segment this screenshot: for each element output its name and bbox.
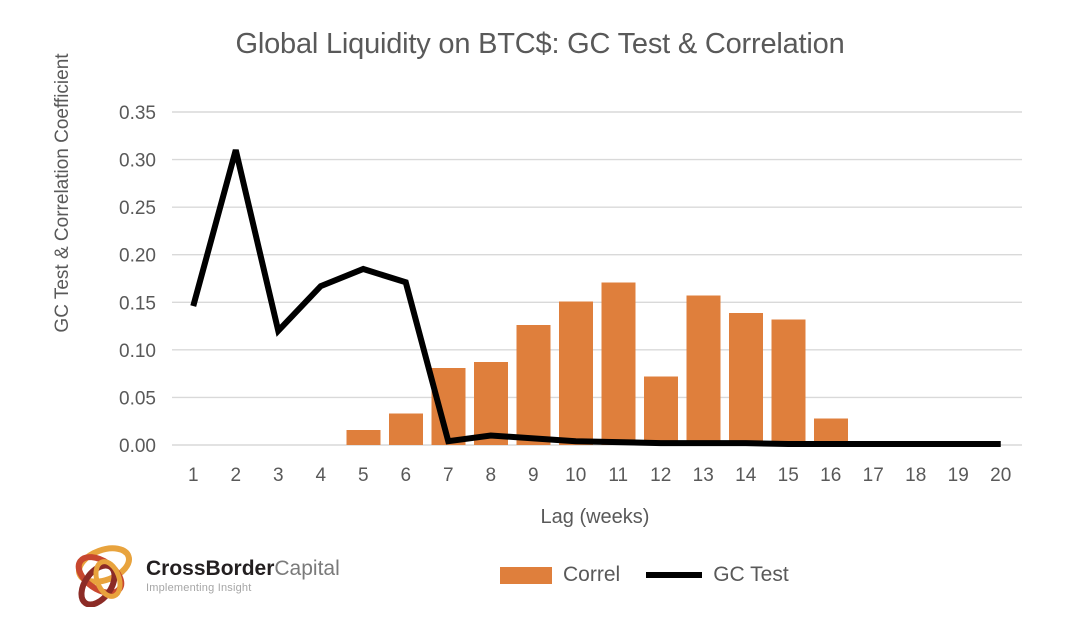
brand-tagline: Implementing Insight	[146, 583, 340, 594]
y-tick-label: 0.10	[119, 341, 156, 362]
x-tick-label: 18	[905, 465, 926, 486]
chart-figure: Global Liquidity on BTC$: GC Test & Corr…	[0, 0, 1080, 631]
legend-label-correl: Correl	[563, 563, 620, 587]
bar	[729, 313, 763, 445]
x-tick-label: 4	[315, 465, 326, 486]
y-tick-label: 0.15	[119, 293, 156, 314]
bar	[389, 414, 423, 445]
x-axis-title: Lag (weeks)	[170, 506, 1020, 529]
gc-test-line	[193, 150, 1001, 444]
x-tick-label: 13	[693, 465, 714, 486]
x-tick-label: 12	[650, 465, 671, 486]
x-tick-label: 15	[778, 465, 799, 486]
plot-area: 0.000.050.100.150.200.250.300.35 1234567…	[0, 0, 1080, 631]
x-tick-label: 10	[565, 465, 586, 486]
legend-item-correl: Correl	[500, 563, 620, 587]
brand-name: CrossBorderCapital	[146, 558, 340, 579]
bar	[516, 325, 550, 445]
y-tick-label: 0.25	[119, 198, 156, 219]
bar	[346, 430, 380, 445]
x-tick-label: 16	[820, 465, 841, 486]
x-tick-label: 19	[948, 465, 969, 486]
bar	[559, 301, 593, 445]
bar	[686, 296, 720, 445]
y-tick-label: 0.05	[119, 388, 156, 409]
x-tick-label: 20	[990, 465, 1011, 486]
x-tick-label: 1	[188, 465, 199, 486]
legend-item-gc-test: GC Test	[646, 563, 788, 587]
y-tick-label: 0.00	[119, 436, 156, 457]
chart-legend: Correl GC Test	[500, 563, 789, 587]
line-series-gc-test	[193, 150, 1001, 444]
x-tick-label: 7	[443, 465, 454, 486]
x-tick-label: 2	[230, 465, 241, 486]
x-axis-tick-labels: 1234567891011121314151617181920	[188, 465, 1011, 486]
bar	[814, 418, 848, 445]
legend-line-swatch-icon	[646, 572, 702, 578]
bar	[601, 282, 635, 445]
y-axis-tick-labels: 0.000.050.100.150.200.250.300.35	[119, 103, 156, 457]
crossborder-spiral-logo-icon	[70, 545, 138, 607]
brand-name-light: Capital	[274, 557, 339, 580]
y-tick-label: 0.30	[119, 151, 156, 172]
x-tick-label: 14	[735, 465, 757, 486]
y-tick-label: 0.35	[119, 103, 156, 124]
gridlines	[172, 112, 1022, 445]
x-tick-label: 5	[358, 465, 369, 486]
x-tick-label: 3	[273, 465, 284, 486]
x-tick-label: 6	[400, 465, 411, 486]
x-tick-label: 11	[608, 465, 628, 486]
brand-logo: CrossBorderCapital Implementing Insight	[70, 545, 340, 607]
bar-series-correl	[346, 282, 848, 445]
x-tick-label: 17	[863, 465, 884, 486]
legend-label-gc-test: GC Test	[713, 563, 788, 587]
brand-name-bold: CrossBorder	[146, 557, 274, 580]
legend-bar-swatch-icon	[500, 567, 552, 584]
x-tick-label: 9	[528, 465, 539, 486]
y-tick-label: 0.20	[119, 246, 156, 267]
bar	[771, 319, 805, 445]
brand-text: CrossBorderCapital Implementing Insight	[146, 558, 340, 594]
bar	[644, 376, 678, 445]
x-tick-label: 8	[485, 465, 496, 486]
